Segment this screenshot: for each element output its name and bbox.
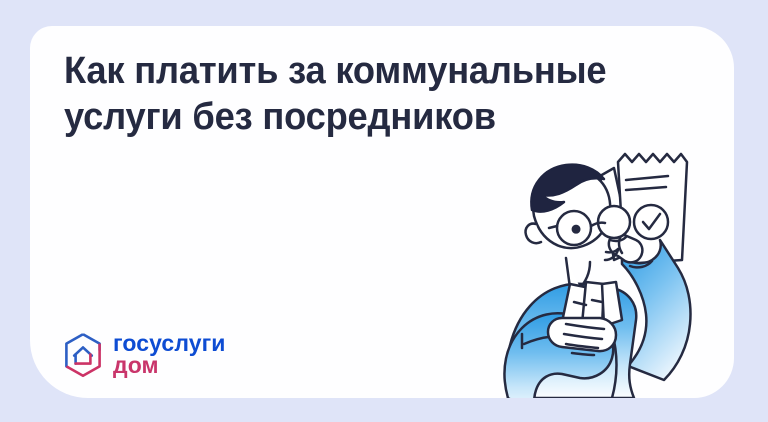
banner-canvas: Как платить за коммунальные услуги без п… — [0, 0, 768, 422]
logo-wordmark: госуслуги дом — [113, 333, 226, 376]
illustration-svg — [462, 132, 712, 398]
illustration-man-paying-utilities — [462, 132, 712, 398]
white-content-card: Как платить за коммунальные услуги без п… — [30, 26, 734, 398]
page-title: Как платить за коммунальные услуги без п… — [64, 48, 618, 141]
gosuslugi-dom-logo[interactable]: госуслуги дом — [62, 332, 226, 378]
logo-word-dom: дом — [113, 355, 226, 377]
house-in-hexagon-icon — [62, 332, 104, 378]
